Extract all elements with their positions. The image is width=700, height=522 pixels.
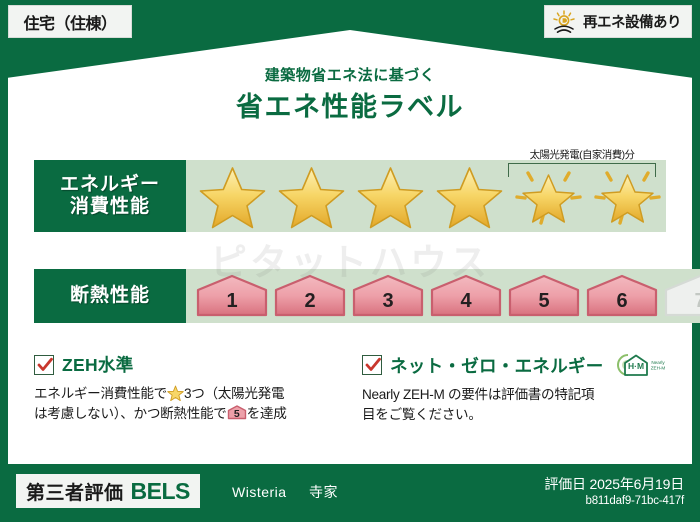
- insulation-level-value: 1: [194, 290, 270, 313]
- star-filled: [273, 163, 350, 229]
- insulation-performance-row: 断熱性能 1 2 3: [34, 269, 666, 323]
- insulation-level-5: 5: [506, 273, 582, 319]
- property-name: Wisteria: [232, 484, 287, 500]
- building-type-label: 住宅（住棟）: [23, 10, 116, 34]
- insulation-label-line1: 断熱性能: [70, 285, 150, 307]
- insulation-level-track: 1 2 3 4 5: [186, 269, 700, 323]
- insulation-level-value: 3: [350, 290, 426, 313]
- bels-badge: 第三者評価 BELS: [16, 474, 200, 508]
- svg-text:ZEH-M: ZEH-M: [650, 366, 665, 371]
- star-filled: [194, 163, 271, 229]
- zeh-desc-part2: 3つ（太陽光発電: [184, 386, 284, 401]
- criteria-section: ZEH水準 エネルギー消費性能で3つ（太陽光発電は考慮しない）、かつ断熱性能で5…: [34, 352, 672, 424]
- solar-sun-icon: [551, 10, 577, 34]
- energy-label-line1: エネルギー: [60, 174, 160, 196]
- insulation-level-value: 2: [272, 290, 348, 313]
- energy-performance-label: エネルギー 消費性能: [34, 160, 186, 232]
- building-type-tab: 住宅（住棟）: [8, 5, 132, 38]
- inline-house-badge-icon: 5: [227, 405, 247, 420]
- criteria-nze-header: ネット・ゼロ・エネルギー H·M Nearly ZEH-M: [362, 352, 672, 378]
- nze-desc-part2: 目をご覧ください。: [362, 407, 482, 422]
- zeh-title: ZEH水準: [62, 352, 134, 377]
- svg-text:H·M: H·M: [628, 361, 644, 371]
- zeh-m-logo-icon: H·M Nearly ZEH-M: [616, 352, 668, 378]
- solar-annotation-label: 太陽光発電(自家消費)分: [506, 147, 658, 162]
- criteria-zeh-header: ZEH水準: [34, 352, 344, 377]
- label-title: 省エネ性能ラベル: [0, 85, 700, 124]
- nze-desc-part1: Nearly ZEH-M の要件は評価書の特記項: [362, 387, 594, 402]
- renewable-equipment-badge: 再エネ設備あり: [544, 5, 692, 38]
- energy-label-root: 住宅（住棟） 再エネ設備あり 建築物省エネ法に基づく 省エネ性能ラベル: [0, 0, 700, 522]
- footer-bar: 第三者評価 BELS Wisteria 寺家 評価日 2025年6月19日 b8…: [0, 464, 700, 522]
- evaluation-id: b811daf9-71bc-417f: [586, 495, 685, 507]
- property-info: Wisteria 寺家: [232, 482, 338, 502]
- star-filled: [431, 163, 508, 229]
- property-name-secondary: 寺家: [309, 484, 338, 500]
- criteria-net-zero-energy: ネット・ゼロ・エネルギー H·M Nearly ZEH-M Nearly ZEH…: [362, 352, 672, 424]
- insulation-level-6: 6: [584, 273, 660, 319]
- insulation-level-value: 6: [584, 290, 660, 313]
- evaluation-date: 評価日 2025年6月19日: [544, 474, 684, 494]
- solar-annotation-bracket: [508, 163, 656, 177]
- energy-label-line2: 消費性能: [70, 196, 150, 218]
- star-filled: [352, 163, 429, 229]
- label-subtitle: 建築物省エネ法に基づく: [0, 64, 700, 85]
- insulation-levels: 1 2 3 4 5: [194, 273, 700, 319]
- criteria-zeh: ZEH水準 エネルギー消費性能で3つ（太陽光発電は考慮しない）、かつ断熱性能で5…: [34, 352, 344, 424]
- bels-en-label: BELS: [131, 478, 190, 505]
- net-zero-energy-title: ネット・ゼロ・エネルギー: [390, 353, 604, 378]
- net-zero-energy-checkbox[interactable]: [362, 355, 382, 375]
- bels-jp-label: 第三者評価: [26, 478, 124, 505]
- insulation-level-2: 2: [272, 273, 348, 319]
- zeh-desc-part3: は考慮しない）、かつ断熱性能で: [34, 406, 227, 421]
- renewable-badge-label: 再エネ設備あり: [583, 11, 681, 32]
- insulation-level-value: 5: [506, 290, 582, 313]
- insulation-level-1: 1: [194, 273, 270, 319]
- net-zero-energy-description: Nearly ZEH-M の要件は評価書の特記項目をご覧ください。: [362, 385, 672, 424]
- insulation-performance-label: 断熱性能: [34, 269, 186, 323]
- svg-text:Nearly: Nearly: [651, 360, 665, 365]
- insulation-level-3: 3: [350, 273, 426, 319]
- zeh-desc-part1: エネルギー消費性能で: [34, 386, 167, 401]
- insulation-level-value: 7: [662, 290, 700, 313]
- insulation-level-value: 4: [428, 290, 504, 313]
- inline-house-badge-value: 5: [227, 407, 247, 422]
- insulation-level-4: 4: [428, 273, 504, 319]
- zeh-checkbox[interactable]: [34, 355, 54, 375]
- inline-star-icon: [167, 385, 184, 401]
- insulation-level-7: 7: [662, 273, 700, 319]
- zeh-description: エネルギー消費性能で3つ（太陽光発電は考慮しない）、かつ断熱性能で5を達成: [34, 384, 344, 423]
- zeh-desc-part4: を達成: [247, 406, 287, 421]
